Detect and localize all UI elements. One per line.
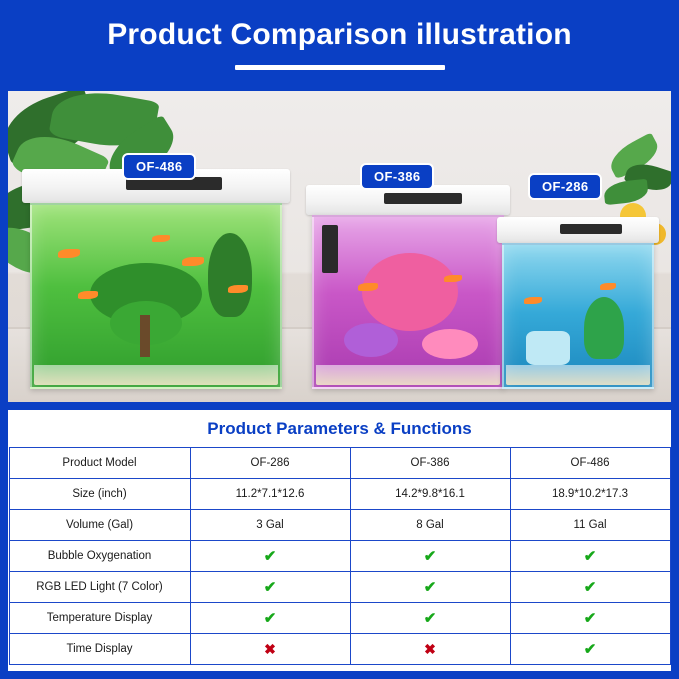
cross-icon: ✖	[424, 641, 436, 657]
fish-icon	[152, 235, 170, 242]
check-icon: ✔	[424, 579, 437, 596]
tank-coral-decor	[344, 323, 398, 357]
table-cell-mark: ✔	[350, 541, 510, 572]
title-underline	[235, 65, 445, 70]
check-icon: ✔	[264, 548, 277, 565]
tank-filter-icon	[322, 225, 338, 273]
table-row: Size (inch)11.2*7.1*12.614.2*9.8*16.118.…	[9, 479, 670, 510]
fish-icon	[358, 283, 378, 291]
table-cell-mark: ✔	[510, 541, 670, 572]
table-row-label: Volume (Gal)	[9, 510, 190, 541]
table-header-cell: Product Model	[9, 448, 190, 479]
check-icon: ✔	[584, 548, 597, 565]
check-icon: ✔	[424, 548, 437, 565]
table-row-label: RGB LED Light (7 Color)	[9, 572, 190, 603]
tank-glass	[30, 203, 282, 389]
table-row-label: Time Display	[9, 634, 190, 665]
table-cell-value: 18.9*10.2*17.3	[510, 479, 670, 510]
table-header-cell: OF-486	[510, 448, 670, 479]
table-cell-mark: ✔	[350, 572, 510, 603]
table-cell-value: 3 Gal	[190, 510, 350, 541]
table-title: Product Parameters & Functions	[8, 410, 671, 447]
badge-of-486: OF-486	[122, 153, 196, 180]
fish-icon	[182, 257, 204, 266]
fish-icon	[78, 291, 98, 299]
table-cell-mark: ✔	[190, 541, 350, 572]
check-icon: ✔	[264, 610, 277, 627]
page-title: Product Comparison illustration	[0, 18, 679, 52]
check-icon: ✔	[264, 579, 277, 596]
tank-gravel	[506, 365, 650, 385]
tank-glass	[502, 243, 654, 389]
table-header-cell: OF-386	[350, 448, 510, 479]
table-cell-mark: ✖	[350, 634, 510, 665]
parameters-panel: Product Parameters & Functions Product M…	[8, 410, 671, 671]
header: Product Comparison illustration	[0, 0, 679, 70]
table-row-label: Size (inch)	[9, 479, 190, 510]
tank-display-panel	[560, 224, 622, 234]
table-header-row: Product Model OF-286 OF-386 OF-486	[9, 448, 670, 479]
fish-icon	[600, 283, 616, 290]
tank-coral-decor	[362, 253, 458, 331]
table-cell-mark: ✔	[190, 603, 350, 634]
table-row-label: Bubble Oxygenation	[9, 541, 190, 572]
table-cell-value: 11.2*7.1*12.6	[190, 479, 350, 510]
table-row: Bubble Oxygenation✔✔✔	[9, 541, 670, 572]
tank-of-286: OF-286	[502, 217, 654, 389]
check-icon: ✔	[584, 641, 597, 658]
table-body: Size (inch)11.2*7.1*12.614.2*9.8*16.118.…	[9, 479, 670, 665]
table-row: Time Display✖✖✔	[9, 634, 670, 665]
table-row: Temperature Display✔✔✔	[9, 603, 670, 634]
fish-icon	[524, 297, 542, 304]
table-cell-mark: ✔	[350, 603, 510, 634]
table-cell-mark: ✔	[510, 634, 670, 665]
check-icon: ✔	[584, 610, 597, 627]
table-header-cell: OF-286	[190, 448, 350, 479]
table-cell-value: 8 Gal	[350, 510, 510, 541]
table-cell-mark: ✖	[190, 634, 350, 665]
tank-of-386: OF-386	[312, 185, 504, 389]
table-cell-mark: ✔	[510, 603, 670, 634]
tank-gravel	[316, 365, 500, 385]
table-row: Volume (Gal)3 Gal8 Gal11 Gal	[9, 510, 670, 541]
fish-icon	[228, 285, 248, 293]
check-icon: ✔	[424, 610, 437, 627]
table-cell-mark: ✔	[510, 572, 670, 603]
tank-display-panel	[384, 193, 462, 204]
tank-rock-decor	[526, 331, 570, 365]
parameters-table: Product Model OF-286 OF-386 OF-486 Size …	[9, 447, 671, 665]
tank-of-486: OF-486	[30, 169, 282, 389]
table-row: RGB LED Light (7 Color)✔✔✔	[9, 572, 670, 603]
fish-icon	[58, 249, 80, 258]
table-cell-value: 11 Gal	[510, 510, 670, 541]
check-icon: ✔	[584, 579, 597, 596]
table-cell-value: 14.2*9.8*16.1	[350, 479, 510, 510]
product-photo: OF-486 OF-386	[8, 91, 671, 402]
tank-plant-decor	[208, 233, 252, 317]
fish-icon	[444, 275, 462, 282]
tank-glass	[312, 215, 504, 389]
badge-of-286: OF-286	[528, 173, 602, 200]
poster-page: Product Comparison illustration	[0, 0, 679, 679]
table-row-label: Temperature Display	[9, 603, 190, 634]
badge-of-386: OF-386	[360, 163, 434, 190]
cross-icon: ✖	[264, 641, 276, 657]
tank-plant-decor	[584, 297, 624, 359]
tank-coral-decor	[422, 329, 478, 359]
table-cell-mark: ✔	[190, 572, 350, 603]
tank-driftwood-decor	[140, 315, 150, 357]
tank-gravel	[34, 365, 278, 385]
